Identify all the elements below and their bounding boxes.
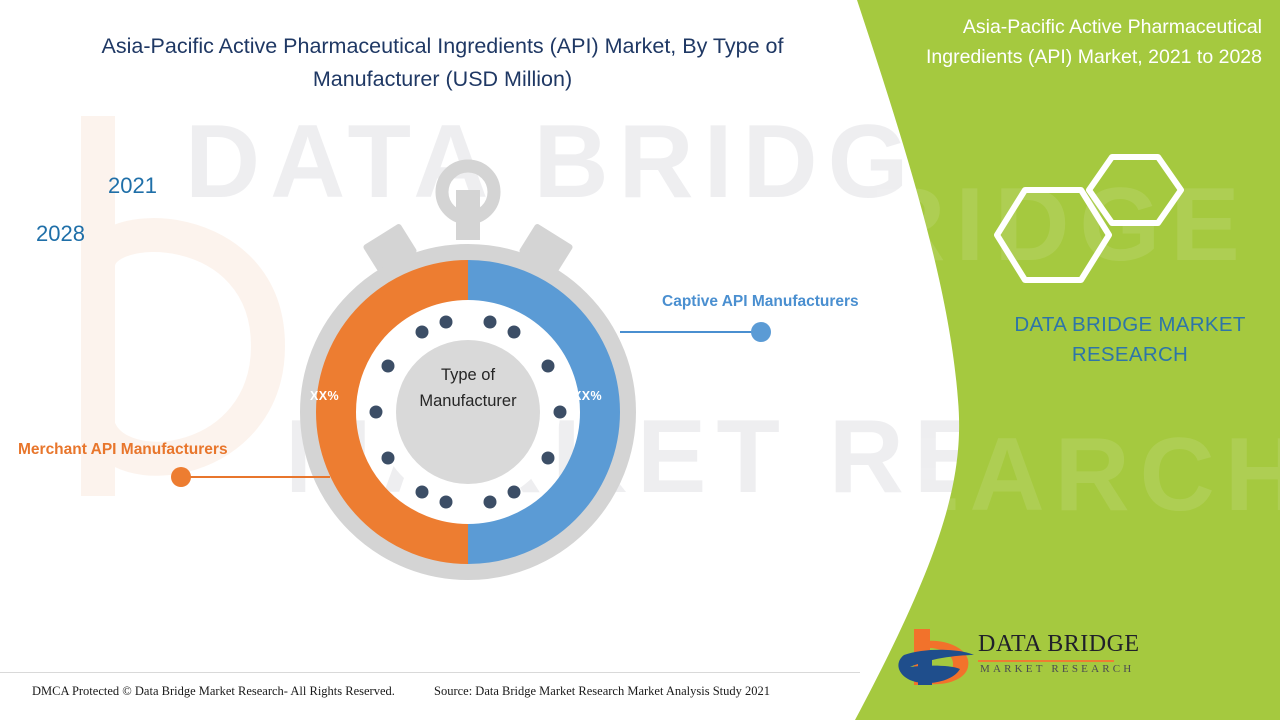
data-bridge-logo: DATA BRIDGE MARKET RESEARCH [892,625,1122,697]
callout-leader-lines [0,0,1280,720]
data-bridge-mark-icon [892,625,978,691]
callout-label-merchant: Merchant API Manufacturers [18,441,228,459]
callout-dot-merchant [171,467,191,487]
footer-source-text: Source: Data Bridge Market Research Mark… [434,684,770,699]
footer-divider [0,672,860,673]
logo-sub-text: MARKET RESEARCH [980,663,1134,675]
logo-main-text: DATA BRIDGE [978,631,1140,658]
logo-underline [978,660,1114,662]
footer-dmca-text: DMCA Protected © Data Bridge Market Rese… [32,684,395,699]
callout-dot-captive [751,322,771,342]
callout-label-captive: Captive API Manufacturers [662,293,859,311]
infographic-canvas: DATA BRIDGE MARKET RESEARCH RIDGE EARCH … [0,0,1280,720]
